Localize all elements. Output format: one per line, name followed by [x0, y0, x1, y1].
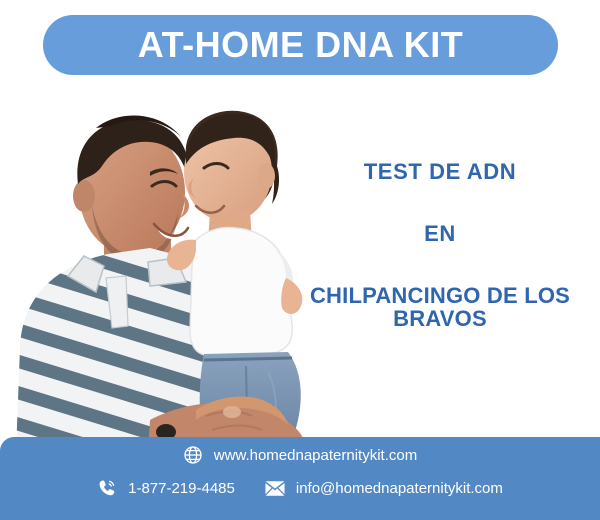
footer-email[interactable]: info@homednapaternitykit.com	[265, 478, 503, 498]
headline-line-2: EN	[285, 222, 595, 246]
footer-phone[interactable]: 1-877-219-4485	[97, 478, 235, 498]
headline-line-1: TEST DE ADN	[285, 160, 595, 184]
phone-icon	[97, 478, 117, 498]
header-title: AT-HOME DNA KIT	[138, 27, 463, 63]
footer-phone-email-row: 1-877-219-4485 info@homednapaternitykit.…	[0, 478, 600, 498]
headline-line-3: CHILPANCINGO DE LOS BRAVOS	[285, 284, 595, 330]
family-photo-illustration	[0, 80, 330, 452]
footer-website-row: www.homednapaternitykit.com	[0, 445, 600, 465]
footer-email-label: info@homednapaternitykit.com	[296, 481, 503, 496]
footer-website-label: www.homednapaternitykit.com	[214, 448, 417, 463]
globe-icon	[183, 445, 203, 465]
footer-website[interactable]: www.homednapaternitykit.com	[183, 445, 417, 465]
footer-contact-bar: www.homednapaternitykit.com 1-877-219-44…	[0, 437, 600, 520]
headline-block: TEST DE ADN EN CHILPANCINGO DE LOS BRAVO…	[285, 160, 595, 331]
footer-phone-label: 1-877-219-4485	[128, 481, 235, 496]
poster-root: AT-HOME DNA KIT	[0, 0, 600, 520]
header-banner: AT-HOME DNA KIT	[43, 15, 558, 75]
envelope-icon	[265, 478, 285, 498]
family-photo	[0, 80, 330, 452]
